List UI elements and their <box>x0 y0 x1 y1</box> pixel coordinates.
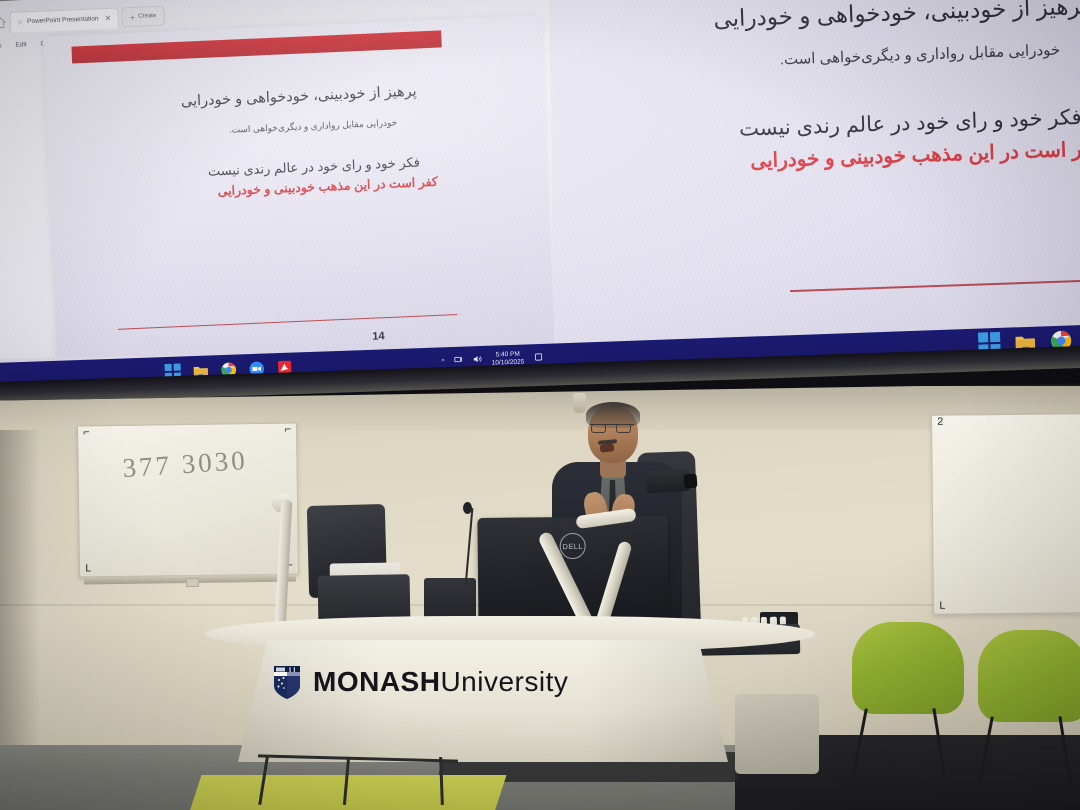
chevron-up-icon[interactable]: ^ <box>441 358 444 365</box>
corner-mark-icon: L <box>939 601 946 613</box>
volume-icon[interactable] <box>472 354 482 366</box>
tab-powerpoint-presentation[interactable]: ☆ PowerPoint Presentation ✕ <box>9 7 118 32</box>
green-chair <box>852 622 964 714</box>
wall-outlet <box>186 578 199 587</box>
acrobat-window: ☆ PowerPoint Presentation ✕ ＋ Create ls … <box>0 0 554 359</box>
lecture-theatre-photo: ☆ PowerPoint Presentation ✕ ＋ Create ls … <box>0 0 1080 810</box>
wall-cushion <box>735 694 819 774</box>
chair-seat <box>852 622 964 714</box>
slide-red-bar <box>71 30 441 63</box>
close-icon[interactable]: ✕ <box>104 14 111 23</box>
create-label: Create <box>138 13 156 20</box>
monash-branding: MONASHUniversity <box>272 664 612 700</box>
projected-heading: پرهیز از خودبینی، خودخواهی و خودرایی <box>688 0 1080 38</box>
create-button[interactable]: ＋ Create <box>121 6 165 28</box>
menu-item-tools[interactable]: ls <box>0 42 2 49</box>
plus-icon: ＋ <box>129 12 135 21</box>
monash-light: University <box>440 666 568 697</box>
whiteboard-handwriting: 377 3030 <box>122 445 249 484</box>
corner-mark-icon: ⌐ <box>284 425 291 437</box>
pdf-page: پرهیز از خودبینی، خودخواهی و خودرایی خود… <box>43 15 554 358</box>
projection-screen: ☆ PowerPoint Presentation ✕ ＋ Create ls … <box>0 0 1080 401</box>
corner-mark-icon: L <box>85 563 92 575</box>
star-icon[interactable]: ☆ <box>17 18 24 26</box>
speaker-glasses <box>590 424 634 433</box>
monash-wordmark: MONASHUniversity <box>313 666 568 698</box>
corner-mark-icon: ⌐ <box>83 427 90 439</box>
slide-content: پرهیز از خودبینی، خودخواهی و خودرایی خود… <box>46 75 548 209</box>
camera-lens <box>684 474 698 489</box>
wall-shadow-left <box>0 430 40 760</box>
ceiling-sensor <box>573 393 586 413</box>
speaker-mouth <box>600 443 615 452</box>
projected-subtext: خودرایی مقابل رواداری و دیگری‌خواهی است. <box>690 35 1080 75</box>
menu-item-edit[interactable]: Edit <box>15 41 26 48</box>
whiteboard-left: ⌐ ⌐ L ⌐ 377 3030 <box>77 422 299 577</box>
dell-logo: DELL <box>560 533 586 559</box>
projected-footer-rule <box>790 280 1080 292</box>
monash-crest-icon <box>272 664 302 700</box>
whiteboard-right-label: 2 <box>937 417 944 429</box>
home-icon[interactable] <box>0 15 7 29</box>
notifications-icon[interactable] <box>533 352 543 364</box>
network-icon[interactable] <box>453 355 463 367</box>
monash-bold: MONASH <box>313 666 440 697</box>
projection-surface: ☆ PowerPoint Presentation ✕ ＋ Create ls … <box>0 0 1080 379</box>
lectern-shading <box>238 640 728 762</box>
slide-footer-rule <box>118 314 458 330</box>
slide-page-number: 14 <box>372 330 385 343</box>
green-chair <box>978 630 1080 722</box>
chair-seat <box>978 630 1080 722</box>
projected-slide-content: پرهیز از خودبینی، خودخواهی و خودرایی خود… <box>688 0 1080 179</box>
projected-slide-zoom: پرهیز از خودبینی، خودخواهی و خودرایی خود… <box>687 0 1080 343</box>
whiteboard-right: 2 L <box>931 413 1080 615</box>
tab-label: PowerPoint Presentation <box>27 15 99 25</box>
